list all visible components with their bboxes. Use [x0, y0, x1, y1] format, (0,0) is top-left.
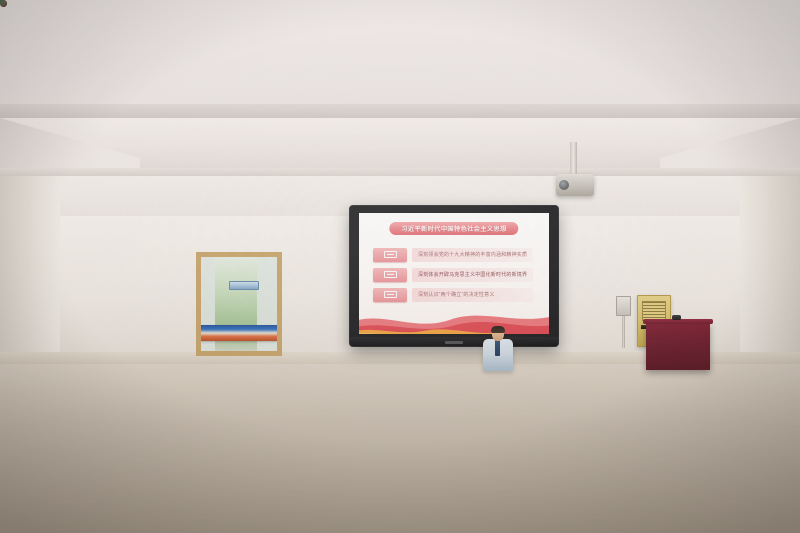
slide-item-2-number — [373, 268, 407, 282]
slide-item-2: 深刻体会开辟马克思主义中国化新时代的新境界 — [373, 267, 533, 282]
electrical-box — [616, 296, 631, 316]
slide-item-2-text: 深刻体会开辟马克思主义中国化新时代的新境界 — [418, 271, 527, 278]
doorway[interactable] — [196, 252, 282, 356]
presentation-display[interactable]: 习近平新时代中国特色社会主义思想 深刻领会党的十九大精神的丰富内涵和精神实质 深… — [350, 206, 558, 346]
slide-item-1-bar: 深刻领会党的十九大精神的丰富内涵和精神实质 — [412, 248, 533, 262]
electrical-conduit — [622, 316, 625, 348]
slide-item-3: 深刻认识“两个确立”的决定性意义 — [373, 287, 533, 302]
slide-item-3-text: 深刻认识“两个确立”的决定性意义 — [418, 291, 495, 298]
ceiling-projector — [556, 174, 594, 196]
slide-item-3-number — [373, 288, 407, 302]
slide-title: 习近平新时代中国特色社会主义思想 — [389, 222, 518, 235]
speaker-tie — [495, 340, 500, 356]
slide-item-3-bar: 深刻认识“两个确立”的决定性意义 — [412, 288, 533, 302]
left:754px;top:196px;width:46px;height:156px;[interactable] — [0, 0, 4, 4]
speaker-hair — [491, 326, 505, 333]
door-sign — [229, 281, 259, 290]
display-brand-logo — [445, 341, 463, 344]
floor — [0, 364, 800, 533]
slide-item-1: 深刻领会党的十九大精神的丰富内涵和精神实质 — [373, 247, 533, 262]
ceiling-beam-front — [0, 104, 800, 118]
presentation-slide: 习近平新时代中国特色社会主义思想 深刻领会党的十九大精神的丰富内涵和精神实质 深… — [359, 213, 549, 334]
side-wall-right — [740, 176, 800, 376]
slide-item-1-number — [373, 248, 407, 262]
podium — [646, 322, 710, 370]
slide-item-1-text: 深刻领会党的十九大精神的丰富内涵和精神实质 — [418, 251, 527, 258]
podium-object — [672, 315, 681, 320]
decorative-banner — [201, 325, 277, 341]
lecture-hall-photo: 习近平新时代中国特色社会主义思想 深刻领会党的十九大精神的丰富内涵和精神实质 深… — [0, 0, 800, 533]
slide-item-2-bar: 深刻体会开辟马克思主义中国化新时代的新境界 — [412, 268, 533, 282]
cabinet-vent-icon — [642, 301, 666, 321]
side-wall-left — [0, 176, 60, 376]
projector-mount — [570, 142, 577, 176]
display-bezel — [350, 337, 558, 346]
projector-lens-icon — [559, 180, 569, 190]
